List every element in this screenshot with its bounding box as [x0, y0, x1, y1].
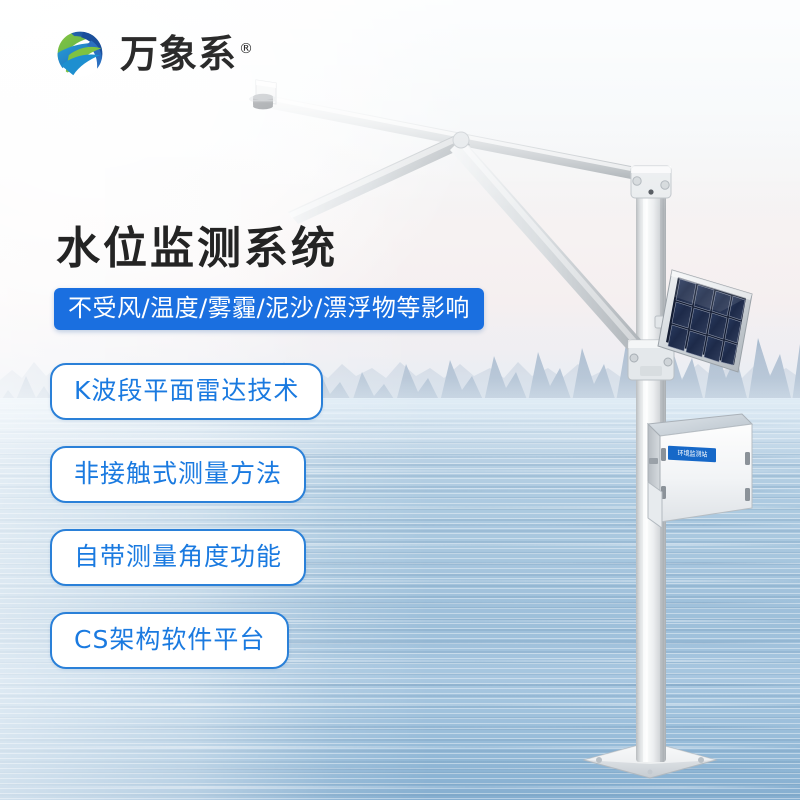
feature-pill-noncontact[interactable]: 非接触式测量方法: [50, 446, 306, 503]
brand-logo[interactable]: 万象系®: [52, 26, 254, 82]
brand-name: 万象系®: [120, 35, 254, 73]
feature-list: K波段平面雷达技术 非接触式测量方法 自带测量角度功能 CS架构软件平台: [50, 363, 323, 695]
swirl-globe-logo-icon: [52, 26, 108, 82]
feature-row: CS架构软件平台: [50, 612, 323, 695]
feature-pill-angle[interactable]: 自带测量角度功能: [50, 529, 306, 586]
feature-row: K波段平面雷达技术: [50, 363, 323, 446]
feature-row: 非接触式测量方法: [50, 446, 323, 529]
cabinet-label-text: 环境监测站: [677, 450, 707, 459]
cabinet-label: 环境监测站: [668, 446, 716, 463]
feature-pill-radar[interactable]: K波段平面雷达技术: [50, 363, 323, 420]
equipment-cabinet: [648, 414, 752, 528]
feature-row: 自带测量角度功能: [50, 529, 323, 612]
trademark-icon: ®: [239, 41, 254, 57]
hero-banner: 不受风/温度/雾霾/泥沙/漂浮物等影响: [54, 288, 484, 330]
feature-pill-platform[interactable]: CS架构软件平台: [50, 612, 289, 669]
promo-poster: 环境监测站: [0, 0, 800, 800]
brand-name-text: 万象系: [120, 32, 237, 76]
page-title: 水位监测系统: [56, 212, 338, 276]
